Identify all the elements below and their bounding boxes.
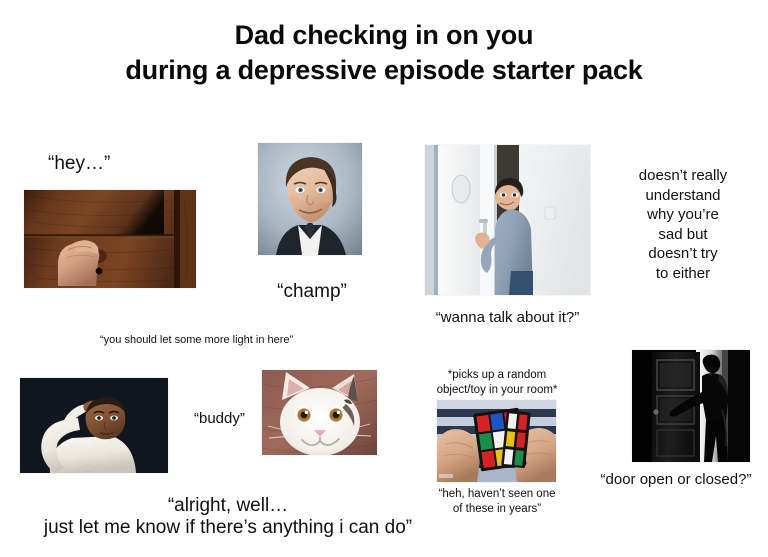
image-man-peeking-through-doorway [425,145,590,295]
caption-champ: “champ” [242,280,382,305]
silhouette-at-door-photo [632,350,750,462]
caption-just-let-me-know: just let me know if there’s anything i c… [18,516,438,541]
title-line-2: during a depressive episode starter pack [0,53,768,88]
hands-holding-rubiks-cube-photo [437,400,556,482]
caption-picks-up-object: *picks up a random object/toy in your ro… [428,368,566,398]
image-hands-holding-rubiks-cube [437,400,556,482]
caption-havent-seen-one: “heh, haven’t seen one of these in years… [428,487,566,517]
hand-knocking-on-wooden-door-photo [24,190,196,288]
caption-let-light-in: “you should let some more light in here” [100,333,293,347]
caption-doesnt-understand: doesn’t really understand why you’re sad… [608,166,758,283]
man-peeking-through-doorway-photo [425,145,590,295]
image-man-scratching-head [20,378,168,473]
caption-door-open-or-closed: “door open or closed?” [596,470,756,490]
title-line-1: Dad checking in on you [235,20,534,50]
image-hand-knocking-on-wooden-door [24,190,196,288]
boy-school-portrait-photo [258,143,362,255]
caption-buddy: “buddy” [194,409,245,429]
man-scratching-head-photo [20,378,168,473]
image-silhouette-at-door [632,350,750,462]
image-boy-school-portrait [258,143,362,255]
image-smiling-cat [262,370,377,455]
smiling-cat-photo [262,370,377,455]
page-title: Dad checking in on you during a depressi… [0,18,768,87]
meme-canvas: Dad checking in on you during a depressi… [0,0,768,557]
caption-alright-well: “alright, well… [60,494,396,519]
caption-hey: “hey…” [48,152,110,177]
caption-wanna-talk: “wanna talk about it?” [425,308,590,328]
